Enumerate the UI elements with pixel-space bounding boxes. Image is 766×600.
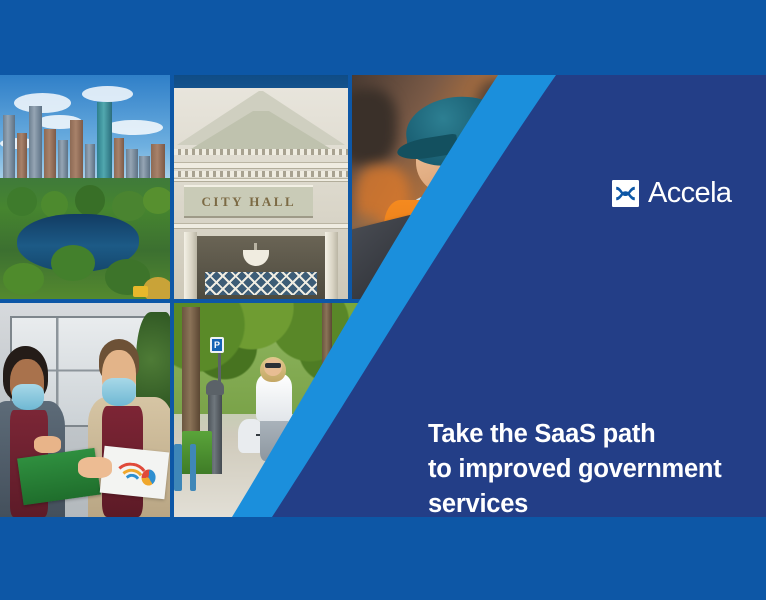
headline-line-2: to improved government bbox=[428, 452, 748, 487]
headline: Take the SaaS path to improved governmen… bbox=[428, 417, 748, 517]
content-band: CITY HALL bbox=[0, 75, 766, 517]
headline-line-1: Take the SaaS path bbox=[428, 417, 748, 452]
accela-ribbon-mark-icon bbox=[612, 180, 639, 207]
accela-logo: Accela bbox=[612, 179, 731, 208]
headline-line-3: services bbox=[428, 487, 748, 517]
banner-canvas: CITY HALL bbox=[0, 0, 766, 600]
accela-wordmark: Accela bbox=[648, 179, 731, 208]
